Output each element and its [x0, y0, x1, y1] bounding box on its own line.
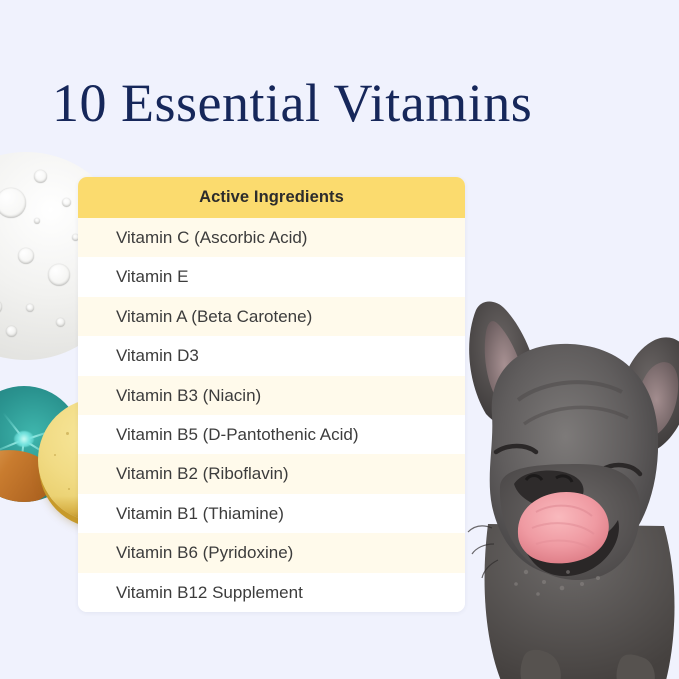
table-row: Vitamin C (Ascorbic Acid): [78, 218, 465, 257]
active-ingredients-table: Active Ingredients Vitamin C (Ascorbic A…: [78, 177, 465, 612]
table-row: Vitamin B1 (Thiamine): [78, 494, 465, 533]
table-row: Vitamin A (Beta Carotene): [78, 297, 465, 336]
table-row: Vitamin E: [78, 257, 465, 296]
table-row: Vitamin B12 Supplement: [78, 573, 465, 612]
french-bulldog-photo: [452, 288, 679, 679]
table-header: Active Ingredients: [78, 177, 465, 218]
table-row: Vitamin B5 (D-Pantothenic Acid): [78, 415, 465, 454]
table-row: Vitamin B2 (Riboflavin): [78, 454, 465, 493]
page-title: 10 Essential Vitamins: [52, 72, 652, 134]
product-infographic: 10 Essential Vitamins: [0, 0, 679, 679]
table-row: Vitamin D3: [78, 336, 465, 375]
table-row: Vitamin B3 (Niacin): [78, 376, 465, 415]
table-row: Vitamin B6 (Pyridoxine): [78, 533, 465, 572]
